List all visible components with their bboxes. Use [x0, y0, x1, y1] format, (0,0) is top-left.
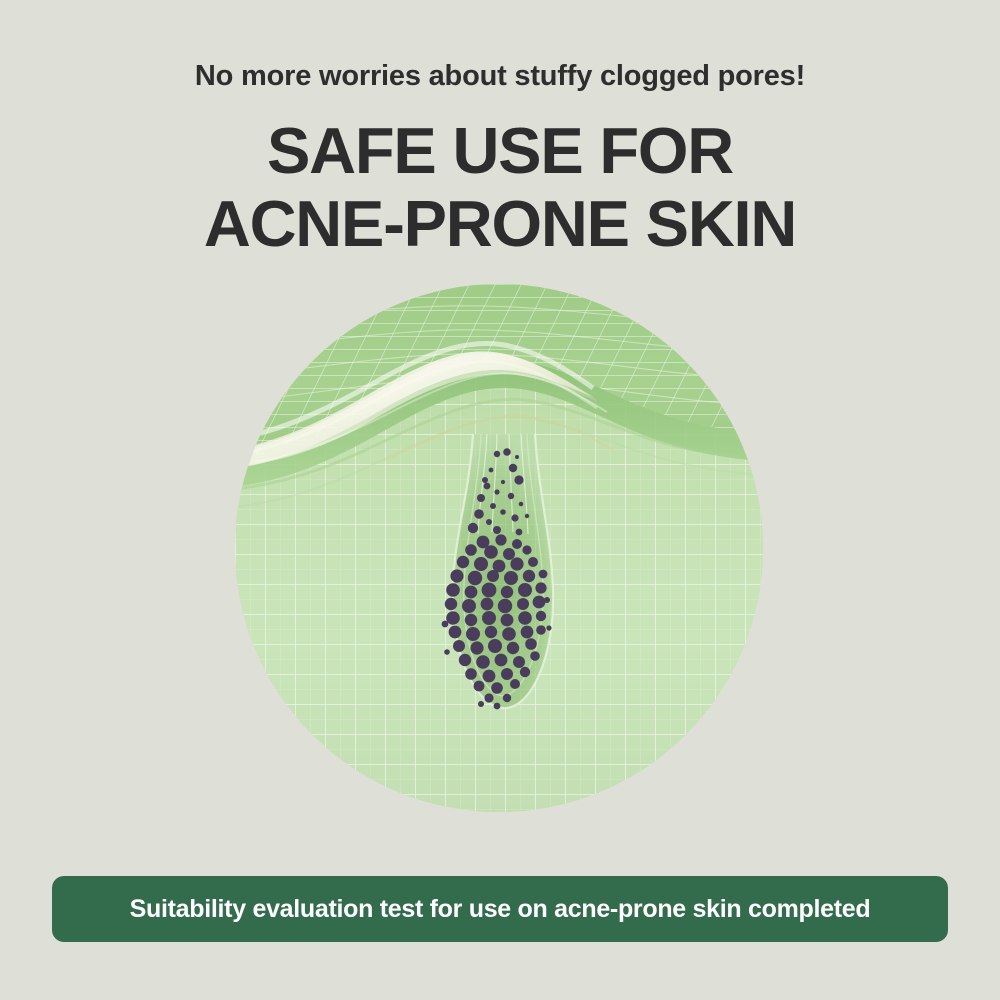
- banner-label: Suitability evaluation test for use on a…: [130, 895, 871, 924]
- headline-line-1: SAFE USE FOR: [0, 115, 1000, 188]
- kicker-text: No more worries about stuffy clogged por…: [0, 0, 1000, 93]
- header-text-block: No more worries about stuffy clogged por…: [0, 0, 1000, 261]
- skin-cross-section-graphic: [235, 284, 763, 812]
- page-title: SAFE USE FOR ACNE-PRONE SKIN: [0, 93, 1000, 261]
- poster-root: No more worries about stuffy clogged por…: [0, 0, 1000, 1000]
- skin-cross-section-illustration: [235, 284, 763, 812]
- status-badge: Suitability evaluation test for use on a…: [52, 876, 948, 942]
- headline-line-2: ACNE-PRONE SKIN: [0, 188, 1000, 261]
